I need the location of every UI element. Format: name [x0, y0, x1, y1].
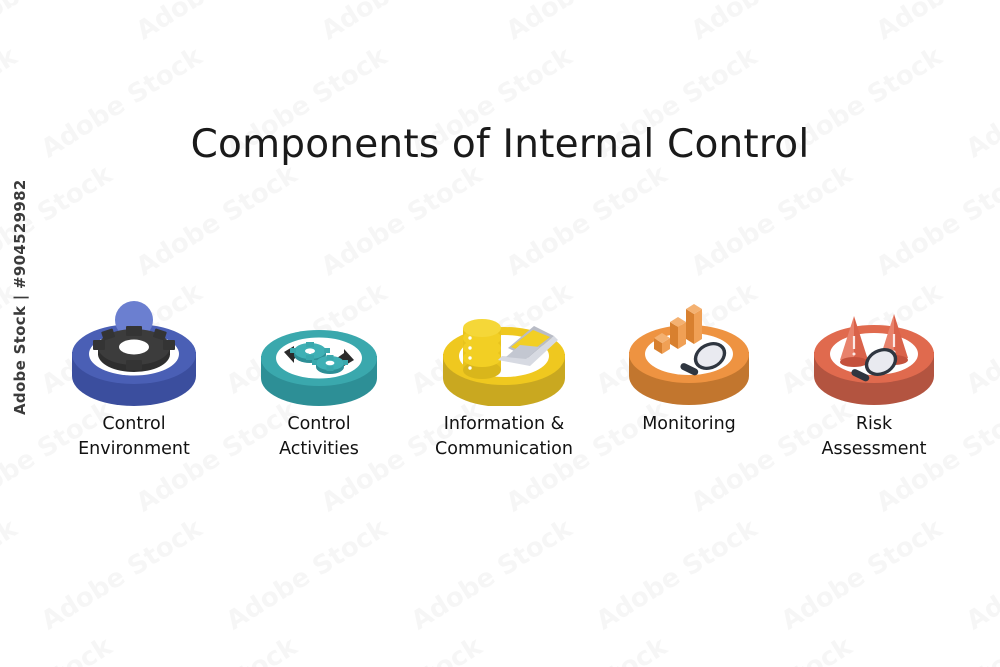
component-label: Information & Communication — [435, 412, 573, 462]
watermark-tile: Adobe Stock — [316, 160, 488, 283]
watermark-tile: Adobe Stock — [131, 0, 303, 46]
stock-credit-label: Adobe Stock | #904529982 — [11, 179, 29, 415]
bar-chart-magnifier-icon — [614, 276, 764, 406]
watermark-tile: Adobe Stock — [961, 514, 1000, 637]
watermark-tile: Adobe Stock — [776, 514, 948, 637]
component-control-environment[interactable]: Control Environment — [44, 276, 224, 462]
watermark-tile: Adobe Stock — [221, 514, 393, 637]
watermark-tile: Adobe Stock — [131, 632, 303, 667]
watermark-tile: Adobe Stock — [871, 160, 1000, 283]
component-risk-assessment[interactable]: Risk Assessment — [784, 276, 964, 462]
component-label: Control Activities — [279, 412, 359, 462]
component-label: Risk Assessment — [822, 412, 927, 462]
watermark-tile: Adobe Stock — [961, 278, 1000, 401]
component-label: Monitoring — [642, 412, 736, 437]
watermark-tile: Adobe Stock — [131, 160, 303, 283]
watermark-tile: Adobe Stock — [501, 160, 673, 283]
watermark-tile: Adobe Stock — [871, 0, 1000, 46]
gear-lightbulb-icon — [59, 276, 209, 406]
watermark-tile: Adobe Stock — [686, 632, 858, 667]
watermark-tile: Adobe Stock — [591, 514, 763, 637]
component-information-communication[interactable]: Information & Communication — [414, 276, 594, 462]
watermark-tile: Adobe Stock — [36, 514, 208, 637]
watermark-tile: Adobe Stock — [501, 632, 673, 667]
watermark-tile: Adobe Stock — [0, 0, 118, 46]
page-title: Components of Internal Control — [0, 122, 1000, 167]
gears-arrows-icon — [244, 276, 394, 406]
component-monitoring[interactable]: Monitoring — [599, 276, 779, 437]
watermark-tile: Adobe Stock — [0, 632, 118, 667]
watermark-tile: Adobe Stock — [406, 514, 578, 637]
watermark-tile: Adobe Stock — [686, 160, 858, 283]
warning-cones-magnifier-icon — [799, 276, 949, 406]
watermark-tile: Adobe Stock — [501, 0, 673, 46]
components-row: Control Environment — [44, 276, 964, 462]
watermark-tile: Adobe Stock — [686, 0, 858, 46]
watermark-tile: Adobe Stock — [316, 632, 488, 667]
component-control-activities[interactable]: Control Activities — [229, 276, 409, 462]
watermark-tile: Adobe Stock — [316, 0, 488, 46]
watermark-tile: Adobe Stock — [871, 632, 1000, 667]
database-laptop-icon — [429, 276, 579, 406]
component-label: Control Environment — [78, 412, 190, 462]
watermark-tile: Adobe Stock — [0, 514, 23, 637]
